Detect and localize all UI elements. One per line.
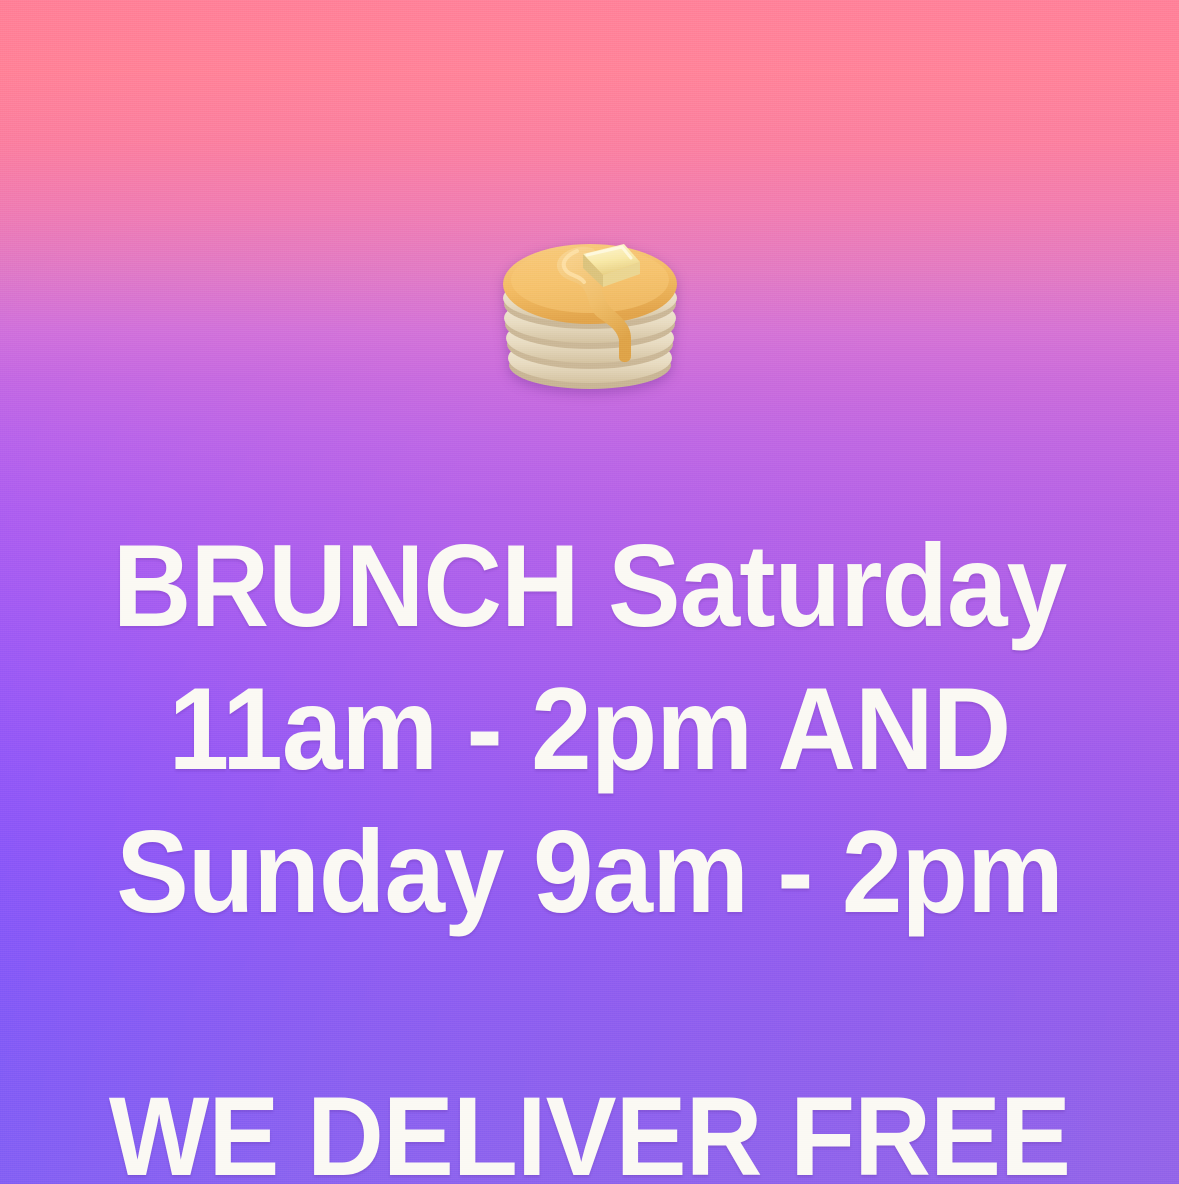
headline-line-2: 11am - 2pm AND [41, 657, 1137, 800]
pancakes-emoji [0, 222, 1179, 398]
deliver-free-text: WE DELIVER FREE [29, 1078, 1149, 1184]
pancakes-icon [491, 222, 689, 398]
headline-block: BRUNCH Saturday 11am - 2pm AND Sunday 9a… [0, 514, 1179, 943]
promo-poster: BRUNCH Saturday 11am - 2pm AND Sunday 9a… [0, 0, 1179, 1184]
headline-line-1: BRUNCH Saturday [41, 514, 1137, 657]
headline-line-3: Sunday 9am - 2pm [41, 800, 1137, 943]
